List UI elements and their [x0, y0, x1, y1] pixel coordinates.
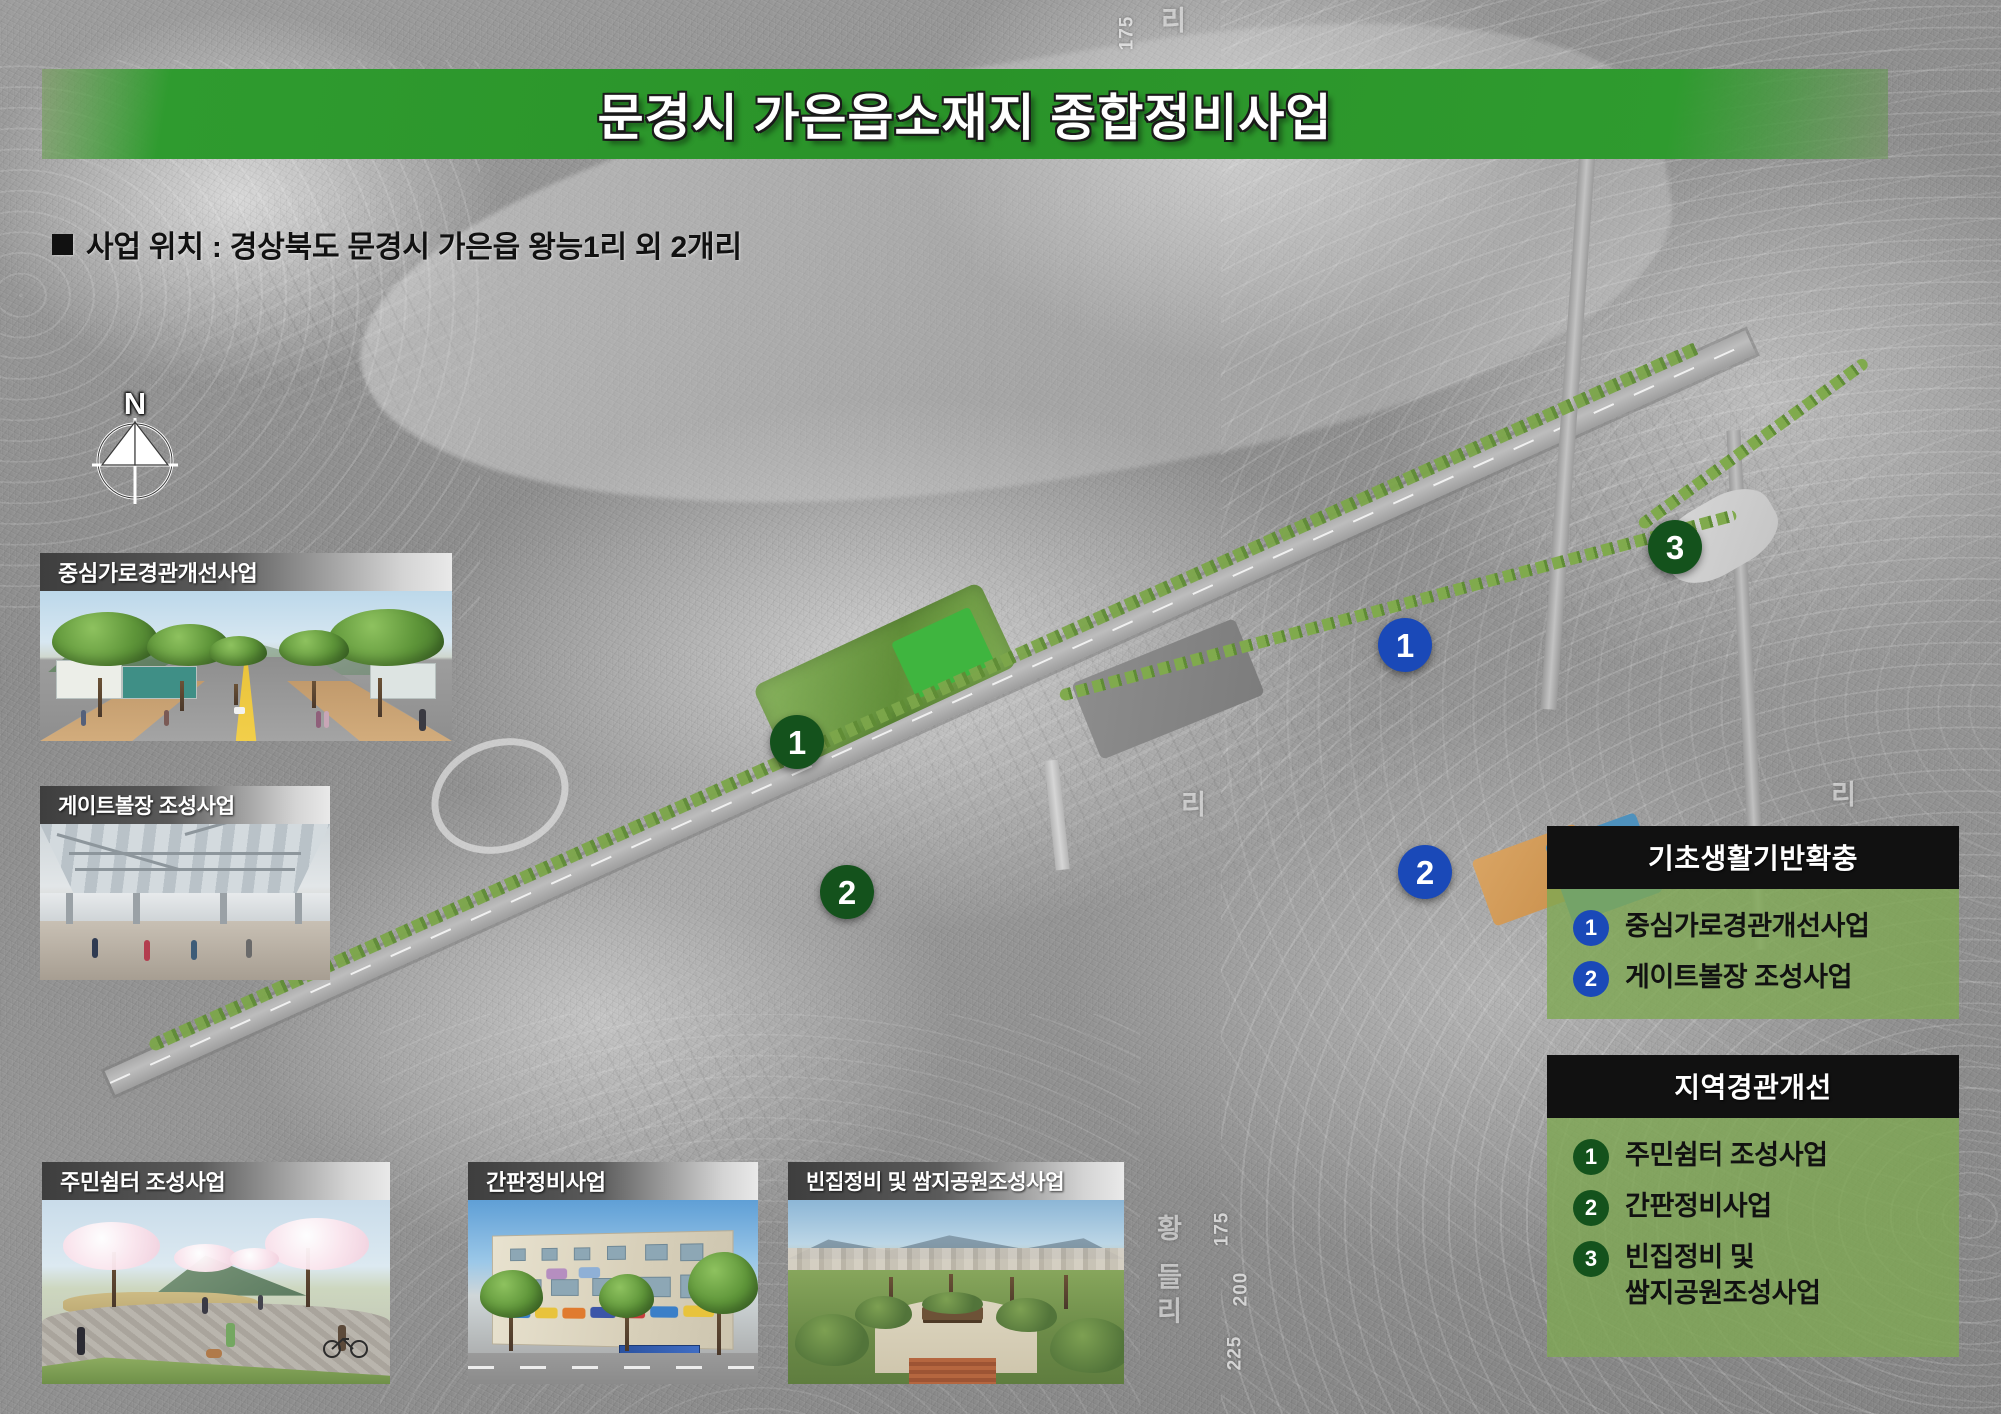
legend-title: 지역경관개선	[1547, 1055, 1959, 1118]
legend-items: 1 주민쉼터 조성사업 2 간판정비사업 3 빈집정비 및 쌈지공원조성사업	[1547, 1118, 1959, 1357]
legend-item[interactable]: 3 빈집정비 및 쌈지공원조성사업	[1573, 1240, 1943, 1311]
legend-item[interactable]: 1 중심가로경관개선사업	[1573, 909, 1943, 946]
legend-item-label: 게이트볼장 조성사업	[1625, 960, 1852, 996]
legend-badge-3: 3	[1573, 1241, 1609, 1277]
photo-image-center-street	[40, 591, 452, 741]
elevation-label: 175	[1211, 1212, 1233, 1247]
photo-card-pocket-park[interactable]: 빈집정비 및 쌈지공원조성사업	[788, 1162, 1124, 1384]
legend-item[interactable]: 2 간판정비사업	[1573, 1189, 1943, 1226]
photo-card-signage[interactable]: 간판정비사업	[468, 1162, 758, 1384]
poster-root: 175 175 200 225 리 리 황 들리 리 문경시 가은읍소재지 종합…	[0, 0, 2001, 1414]
photo-caption: 주민쉼터 조성사업	[42, 1162, 390, 1200]
legend-item-label: 빈집정비 및	[1625, 1242, 1754, 1272]
legend-item[interactable]: 2 게이트볼장 조성사업	[1573, 960, 1943, 997]
photo-image-gateball-gym	[40, 824, 330, 980]
photo-caption: 간판정비사업	[468, 1162, 758, 1200]
legend-item-label: 간판정비사업	[1625, 1189, 1772, 1225]
project-location-text: 사업 위치 : 경상북도 문경시 가은읍 왕능1리 외 2개리	[86, 222, 742, 266]
project-location-line: 사업 위치 : 경상북도 문경시 가은읍 왕능1리 외 2개리	[52, 222, 742, 266]
map-marker-green-2[interactable]: 2	[820, 865, 874, 919]
legend-badge-2: 2	[1573, 961, 1609, 997]
legend-item-label-line2: 쌈지공원조성사업	[1625, 1276, 1821, 1312]
photo-caption: 중심가로경관개선사업	[40, 553, 452, 591]
legend-title: 기초생활기반확충	[1547, 826, 1959, 889]
legend-item-label: 중심가로경관개선사업	[1625, 909, 1869, 945]
photo-caption: 게이트볼장 조성사업	[40, 786, 330, 824]
compass-north-label: N	[124, 388, 146, 419]
legend-item[interactable]: 1 주민쉼터 조성사업	[1573, 1138, 1943, 1175]
compass-rose: N	[92, 392, 178, 504]
compass-rose-icon	[92, 418, 178, 504]
legend-badge-2: 2	[1573, 1190, 1609, 1226]
map-place-label: 리	[1172, 790, 1211, 900]
map-marker-blue-2[interactable]: 2	[1398, 845, 1452, 899]
map-place-label: 황 들리	[1148, 1214, 1187, 1394]
legend-badge-1: 1	[1573, 1139, 1609, 1175]
photo-card-resident-shelter[interactable]: 주민쉼터 조성사업	[42, 1162, 390, 1384]
legend-basic-living-infrastructure: 기초생활기반확충 1 중심가로경관개선사업 2 게이트볼장 조성사업	[1547, 826, 1959, 1019]
title-banner: 문경시 가은읍소재지 종합정비사업	[42, 69, 1888, 159]
map-marker-blue-1[interactable]: 1	[1378, 618, 1432, 672]
elevation-label: 225	[1224, 1336, 1246, 1371]
map-marker-green-1[interactable]: 1	[770, 715, 824, 769]
map-marker-green-3[interactable]: 3	[1648, 520, 1702, 574]
photo-image-resident-shelter	[42, 1200, 390, 1384]
legend-items: 1 중심가로경관개선사업 2 게이트볼장 조성사업	[1547, 889, 1959, 1019]
bicycle-icon	[323, 1332, 369, 1358]
photo-card-center-street[interactable]: 중심가로경관개선사업	[40, 553, 452, 741]
legend-item-label-wrap: 빈집정비 및 쌈지공원조성사업	[1625, 1240, 1821, 1311]
page-title: 문경시 가은읍소재지 종합정비사업	[598, 78, 1333, 150]
elevation-label: 200	[1230, 1272, 1252, 1307]
legend-item-label: 주민쉼터 조성사업	[1625, 1138, 1828, 1174]
photo-card-gateball-gym[interactable]: 게이트볼장 조성사업	[40, 786, 330, 980]
square-bullet-icon	[52, 234, 73, 255]
photo-caption: 빈집정비 및 쌈지공원조성사업	[788, 1162, 1124, 1200]
legend-badge-1: 1	[1573, 910, 1609, 946]
legend-regional-landscape-improvement: 지역경관개선 1 주민쉼터 조성사업 2 간판정비사업 3 빈집정비 및 쌈지공…	[1547, 1055, 1959, 1357]
photo-image-signage	[468, 1200, 758, 1384]
elevation-label: 175	[1116, 16, 1138, 51]
photo-image-pocket-park	[788, 1200, 1124, 1384]
